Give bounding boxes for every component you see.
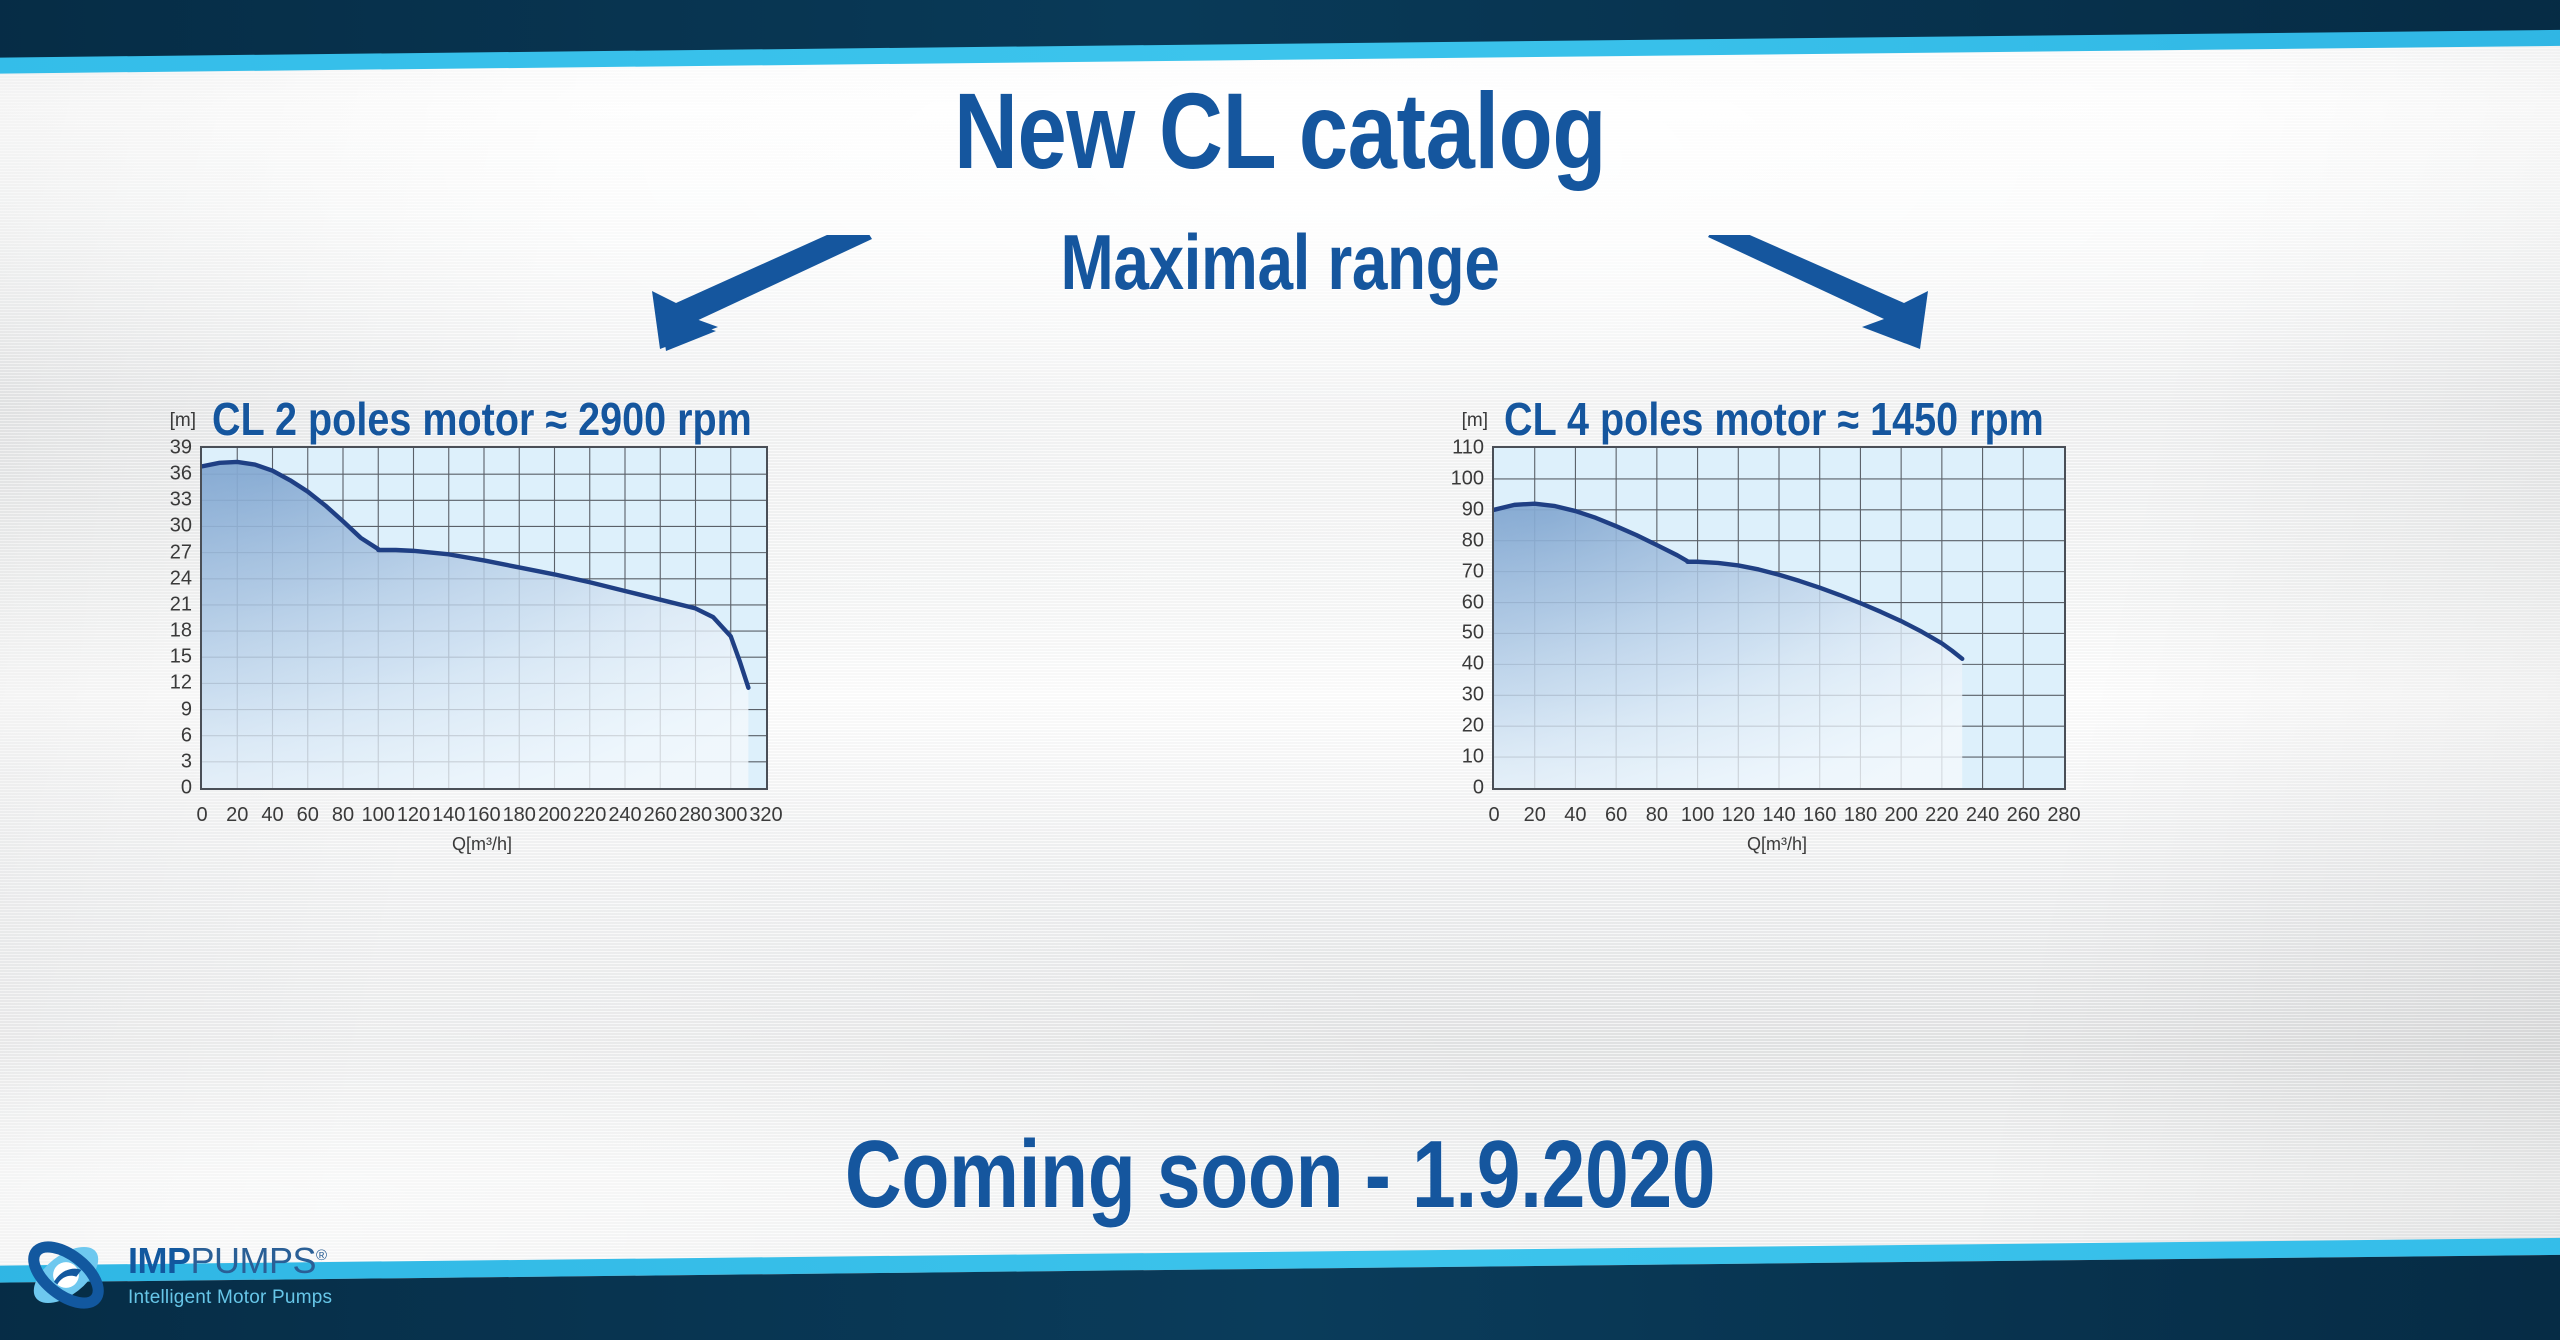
x-axis-tick: 200 [538, 804, 571, 827]
y-axis-tick: 110 [1432, 437, 1484, 460]
logo-word-imp: IMP [128, 1240, 191, 1281]
x-axis-tick: 160 [467, 804, 500, 827]
y-axis-tick: 30 [140, 515, 192, 538]
x-axis-tick: 0 [196, 804, 207, 827]
x-axis-tick: 280 [2047, 804, 2080, 827]
imp-pumps-logo: IMPPUMPS® Intelligent Motor Pumps [22, 1232, 332, 1318]
y-axis-tick: 0 [1432, 777, 1484, 800]
bottom-cyan-band [0, 1237, 2560, 1283]
logo-wordmark: IMPPUMPS® [128, 1243, 332, 1279]
y-axis-unit-right: [m] [1432, 410, 1488, 432]
y-axis-tick: 90 [1432, 498, 1484, 521]
y-axis-tick: 70 [1432, 560, 1484, 583]
x-axis-tick: 220 [1925, 804, 1958, 827]
x-axis-tick: 100 [1681, 804, 1714, 827]
y-axis-tick: 30 [1432, 684, 1484, 707]
y-axis-tick: 18 [140, 620, 192, 643]
plot-area-left [200, 446, 768, 790]
y-axis-unit-left: [m] [140, 410, 196, 432]
x-axis-tick: 240 [608, 804, 641, 827]
y-axis-tick: 12 [140, 672, 192, 695]
x-axis-tick: 240 [1966, 804, 1999, 827]
x-axis-tick: 140 [432, 804, 465, 827]
y-axis-tick: 36 [140, 463, 192, 486]
bottom-navy-band [0, 1254, 2560, 1340]
x-axis-tick: 40 [1564, 804, 1586, 827]
y-axis-tick: 100 [1432, 467, 1484, 490]
promo-banner: New CL catalog Maximal range Coming soon… [0, 0, 2560, 1340]
x-axis-tick: 0 [1488, 804, 1499, 827]
x-axis-tick: 220 [573, 804, 606, 827]
x-axis-tick: 80 [1646, 804, 1668, 827]
x-axis-tick: 40 [261, 804, 283, 827]
plot-area-right [1492, 446, 2066, 790]
x-axis-caption: Q[m³/h] [452, 834, 512, 855]
x-axis-tick: 160 [1803, 804, 1836, 827]
x-axis-tick: 80 [332, 804, 354, 827]
x-axis-tick: 140 [1762, 804, 1795, 827]
x-axis-tick: 300 [714, 804, 747, 827]
page-title: New CL catalog [230, 74, 2329, 187]
y-axis-tick: 9 [140, 698, 192, 721]
x-axis-tick: 260 [2007, 804, 2040, 827]
y-axis-tick: 20 [1432, 715, 1484, 738]
y-axis-tick: 60 [1432, 591, 1484, 614]
y-axis-tick: 80 [1432, 529, 1484, 552]
imp-pumps-orbit-icon [22, 1232, 110, 1318]
logo-word-pumps: PUMPS [191, 1240, 317, 1281]
y-axis-tick: 21 [140, 593, 192, 616]
y-axis-tick: 15 [140, 646, 192, 669]
logo-tagline: Intelligent Motor Pumps [128, 1288, 332, 1307]
x-axis-tick: 20 [226, 804, 248, 827]
x-axis-tick: 20 [1524, 804, 1546, 827]
x-axis-tick: 60 [297, 804, 319, 827]
y-axis-tick: 40 [1432, 653, 1484, 676]
y-axis-tick: 24 [140, 567, 192, 590]
y-axis-tick: 3 [140, 750, 192, 773]
x-axis-tick: 180 [1844, 804, 1877, 827]
y-axis-tick: 39 [140, 437, 192, 460]
subtitle: Maximal range [230, 222, 2329, 304]
x-axis-tick: 260 [644, 804, 677, 827]
x-axis-tick: 280 [679, 804, 712, 827]
x-axis-tick: 100 [362, 804, 395, 827]
top-cyan-band [0, 29, 2560, 74]
x-axis-caption: Q[m³/h] [1747, 834, 1807, 855]
chart-title-right: CL 4 poles motor ≈ 1450 rpm [1504, 392, 2044, 446]
x-axis-tick: 320 [749, 804, 782, 827]
top-navy-band [0, 0, 2560, 66]
x-axis-tick: 200 [1884, 804, 1917, 827]
y-axis-tick: 27 [140, 541, 192, 564]
x-axis-tick: 60 [1605, 804, 1627, 827]
logo-registered-mark: ® [316, 1247, 327, 1264]
x-axis-tick: 120 [397, 804, 430, 827]
x-axis-tick: 180 [503, 804, 536, 827]
x-axis-tick: 120 [1722, 804, 1755, 827]
y-axis-tick: 6 [140, 724, 192, 747]
y-axis-tick: 33 [140, 489, 192, 512]
y-axis-tick: 50 [1432, 622, 1484, 645]
y-axis-tick: 10 [1432, 746, 1484, 769]
coming-soon-text: Coming soon - 1.9.2020 [230, 1125, 2329, 1226]
chart-title-left: CL 2 poles motor ≈ 2900 rpm [212, 392, 752, 446]
y-axis-tick: 0 [140, 777, 192, 800]
